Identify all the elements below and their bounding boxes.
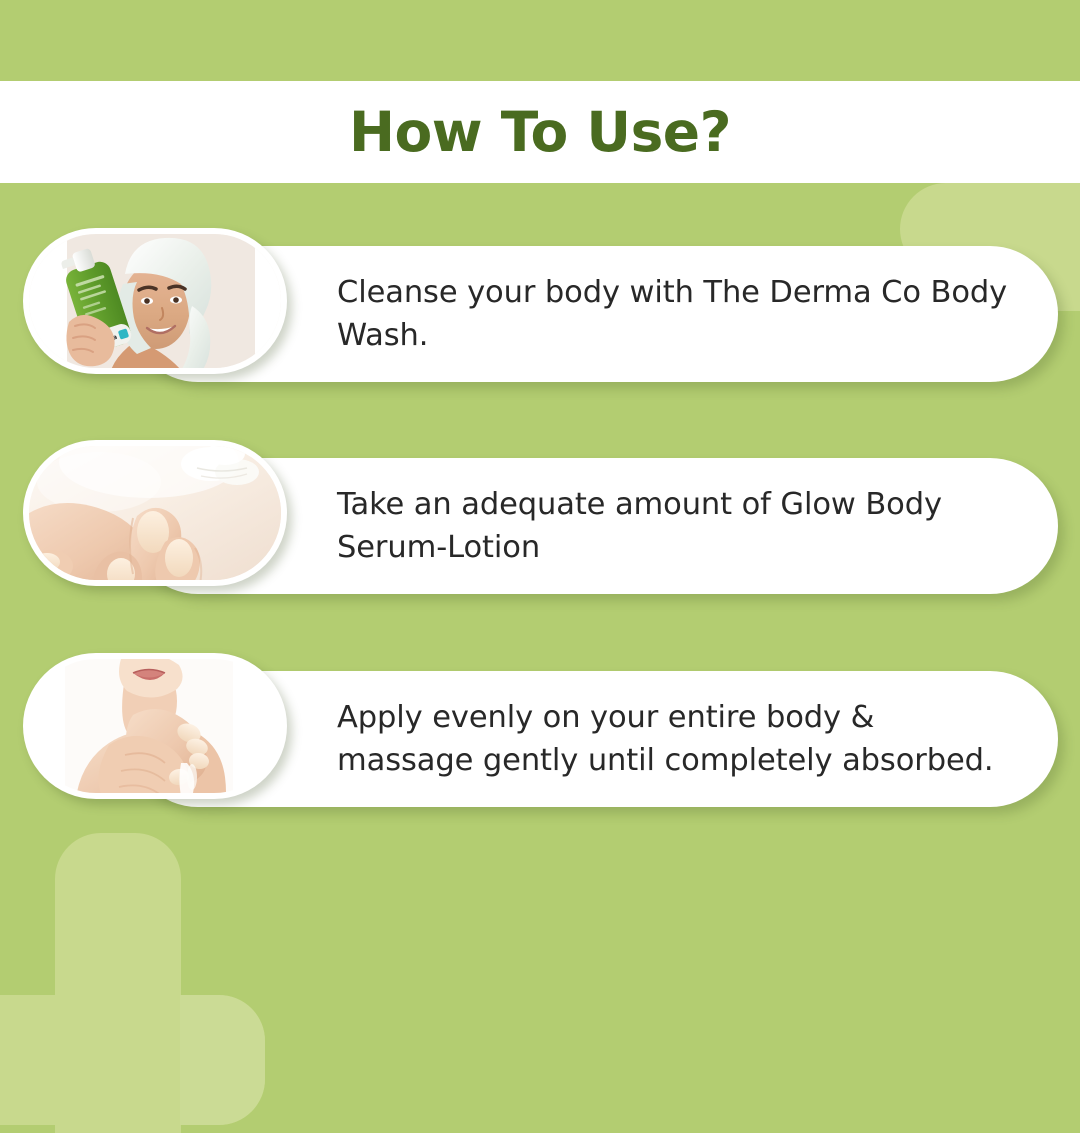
step-thumbnail xyxy=(23,653,287,799)
list-item: Cleanse your body with The Derma Co Body… xyxy=(0,228,1080,400)
thumbnail-clip xyxy=(29,446,281,580)
step-thumbnail xyxy=(23,440,287,586)
thumbnail-clip: derma xyxy=(29,234,281,368)
thumbnail-clip xyxy=(29,659,281,793)
woman-with-towel-illustration: derma xyxy=(29,234,281,368)
step-image-1: derma xyxy=(29,234,281,368)
hand-with-lotion-illustration xyxy=(29,446,281,580)
list-item: Take an adequate amount of Glow Body Ser… xyxy=(0,440,1080,612)
step-image-2 xyxy=(29,446,281,580)
step-text: Take an adequate amount of Glow Body Ser… xyxy=(337,483,1008,570)
step-text: Cleanse your body with The Derma Co Body… xyxy=(337,271,1008,358)
list-item: Apply evenly on your entire body & massa… xyxy=(0,653,1080,825)
step-image-3 xyxy=(29,659,281,793)
step-thumbnail: derma xyxy=(23,228,287,374)
woman-applying-lotion-illustration xyxy=(29,659,281,793)
step-text: Apply evenly on your entire body & massa… xyxy=(337,696,1008,783)
steps-list: Cleanse your body with The Derma Co Body… xyxy=(0,0,1080,1080)
